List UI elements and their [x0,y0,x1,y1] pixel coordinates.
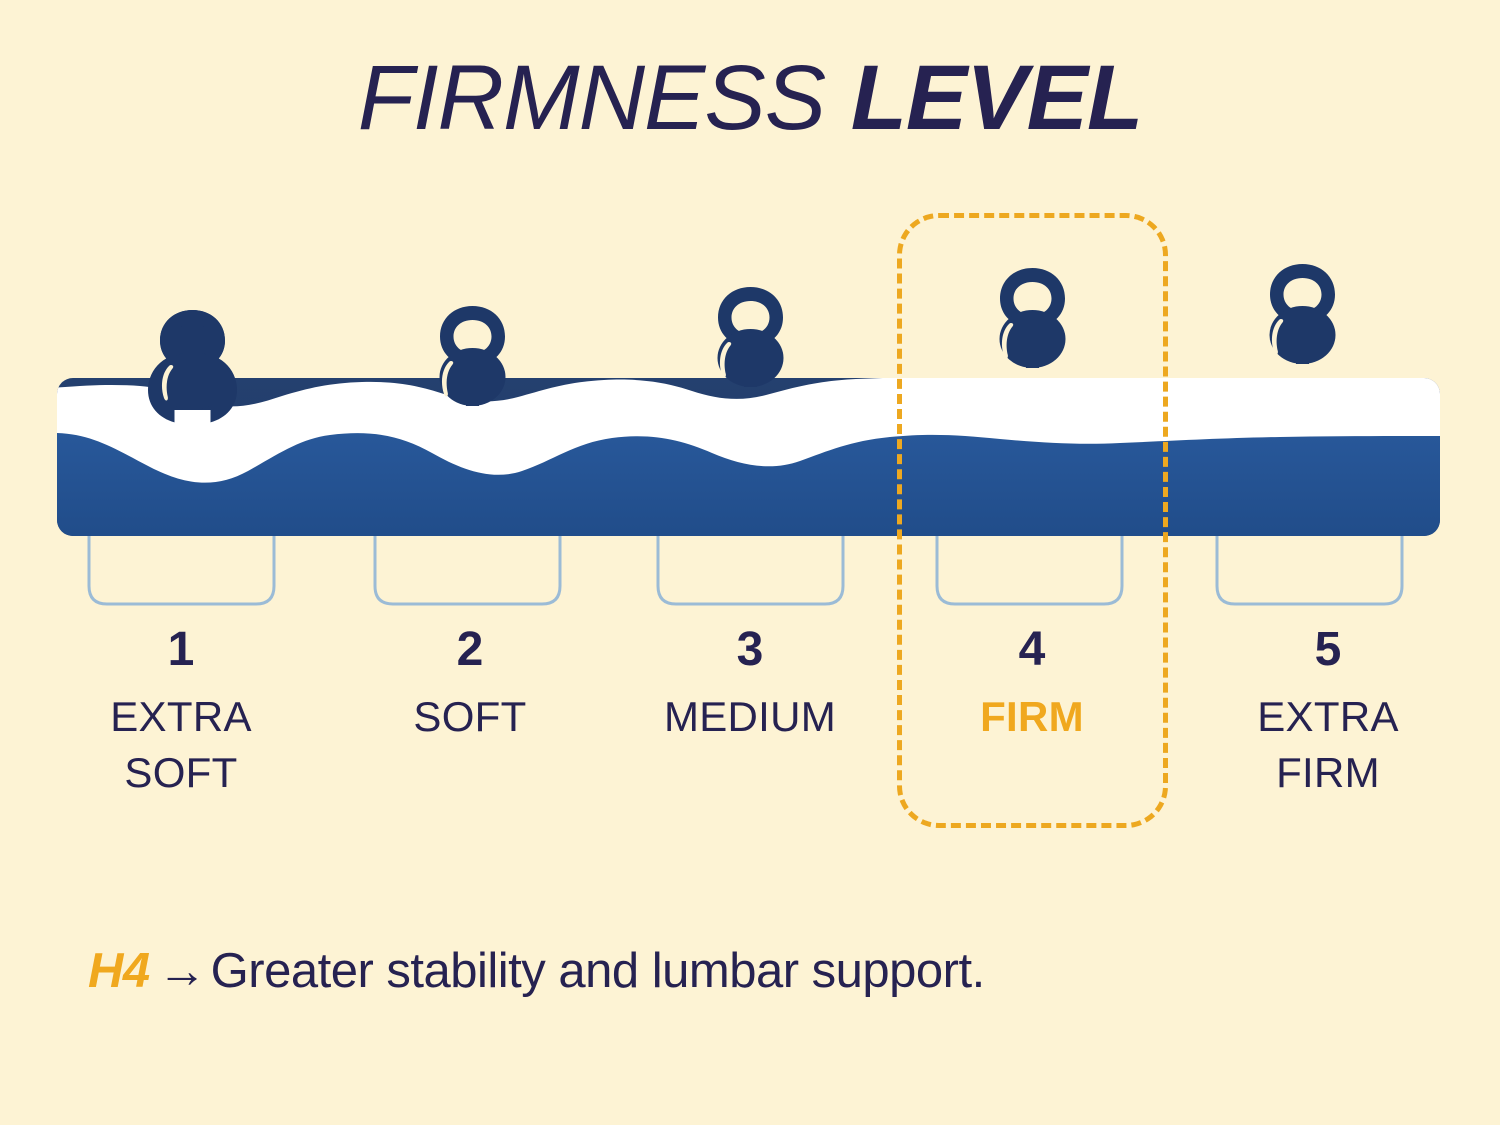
scale-label-3: MEDIUM [635,689,865,744]
mattress-leg [375,534,560,604]
scale-item-1[interactable]: 1 EXTRA SOFT [66,625,296,800]
mattress-leg [89,534,274,604]
caption-key: H4 [88,944,150,998]
arrow-icon: → [150,944,211,998]
kettlebell-icon [148,310,237,422]
scale-number-3: 3 [635,625,865,675]
firmness-scale-labels: 1 EXTRA SOFT 2 SOFT 3 MEDIUM 4 FIRM [0,625,1500,855]
mattress-body [50,377,1450,560]
scale-label-4: FIRM [917,689,1147,744]
scale-label-5: EXTRA FIRM [1213,689,1443,800]
scale-number-2: 2 [355,625,585,675]
scale-item-2[interactable]: 2 SOFT [355,625,585,745]
kettlebell-icon [440,306,506,406]
kettlebell-icon [1000,268,1066,368]
infographic-root: FIRMNESS LEVEL [0,0,1500,1125]
caption-text: Greater stability and lumbar support. [211,944,985,998]
caption: H4→Greater stability and lumbar support. [88,945,985,999]
mattress-legs-group [89,534,1402,604]
kettlebell-icon [718,287,784,387]
scale-item-4[interactable]: 4 FIRM [917,625,1147,745]
scale-number-4: 4 [917,625,1147,675]
mattress-leg [658,534,843,604]
scale-label-1: EXTRA SOFT [66,689,296,800]
scale-label-2: SOFT [355,689,585,744]
mattress-leg [1217,534,1402,604]
scale-number-5: 5 [1213,625,1443,675]
mattress-leg [937,534,1122,604]
scale-number-1: 1 [66,625,296,675]
kettlebell-icon [1270,264,1336,364]
scale-item-3[interactable]: 3 MEDIUM [635,625,865,745]
scale-item-5[interactable]: 5 EXTRA FIRM [1213,625,1443,800]
